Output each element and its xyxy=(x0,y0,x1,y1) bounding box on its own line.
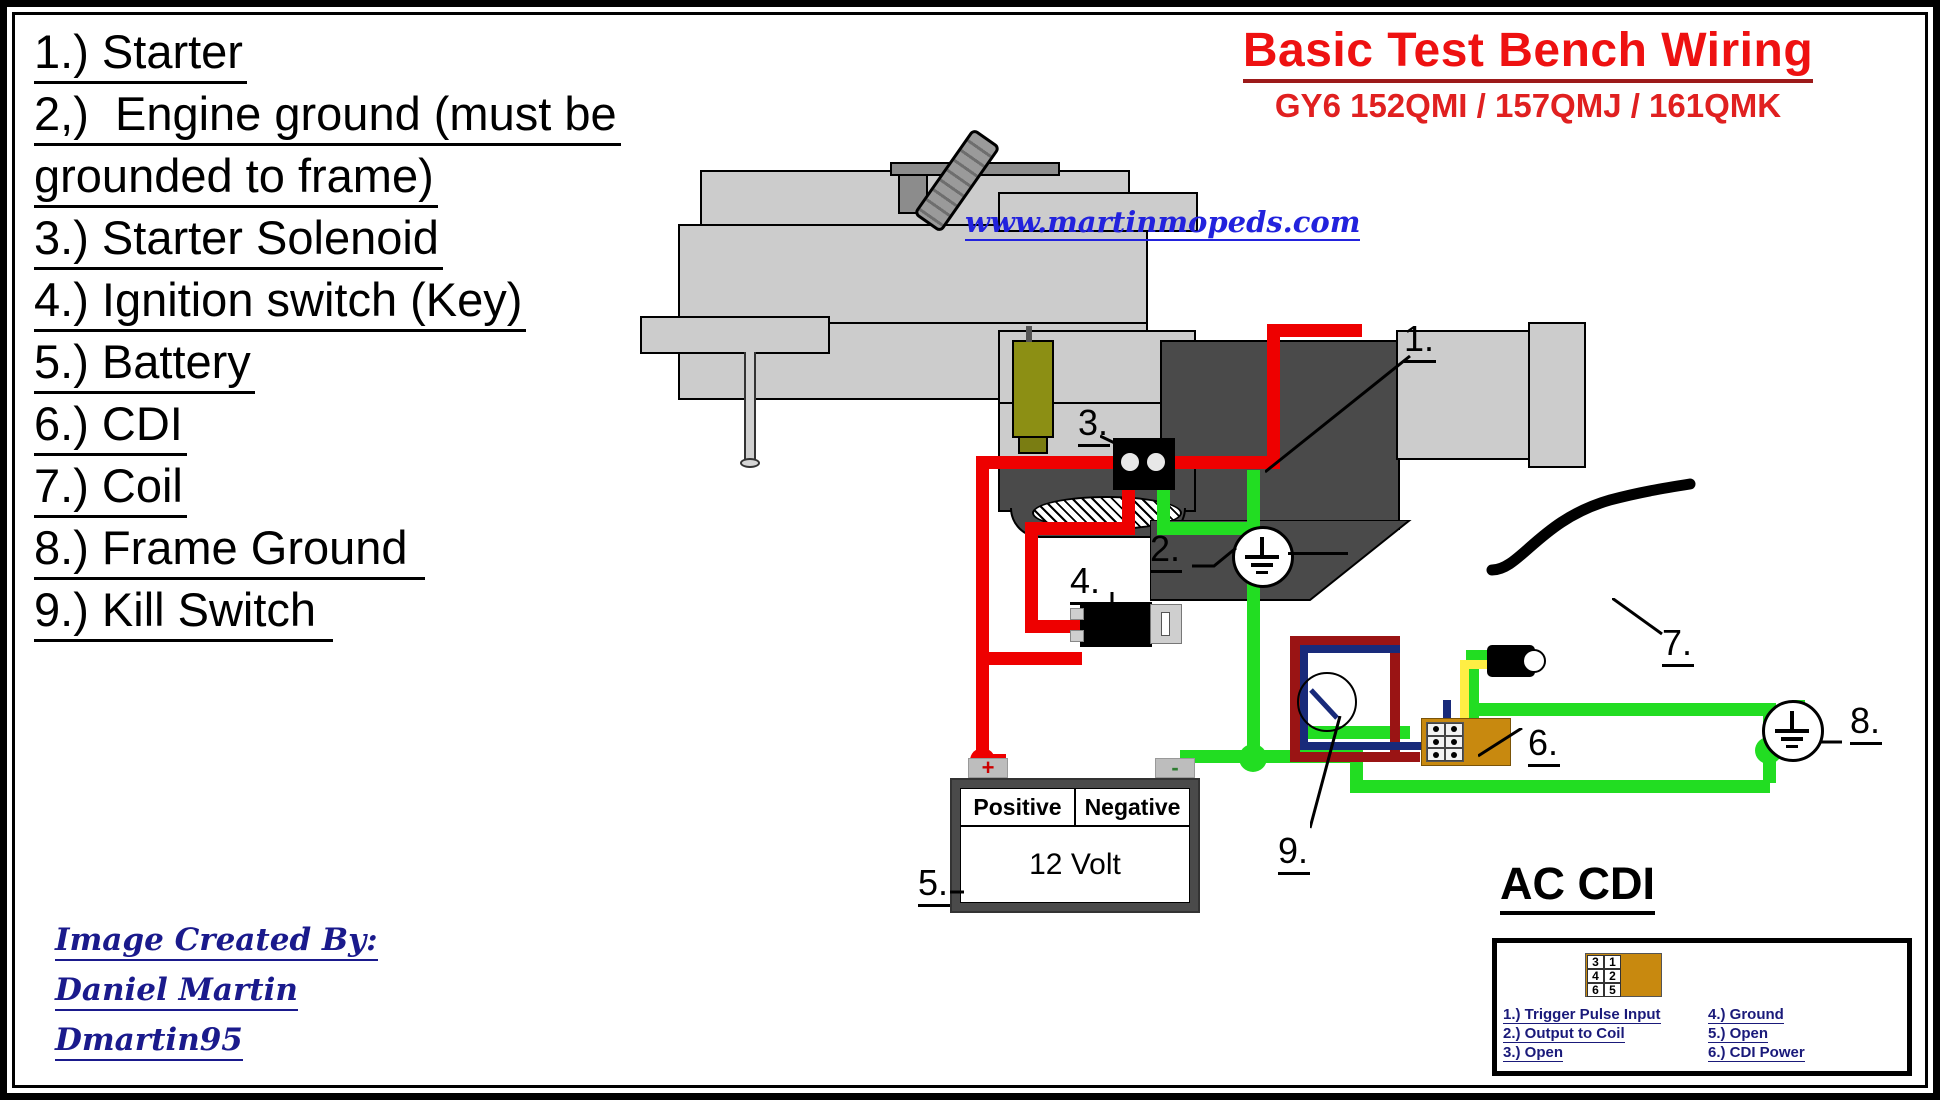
leader-3 xyxy=(1100,432,1170,482)
credit-block: Image Created By: Daniel Martin Dmartin9… xyxy=(55,915,378,1065)
wire-ground-bus-bottom xyxy=(1350,780,1770,793)
ignition-switch-pin-bottom xyxy=(1070,630,1084,642)
ac-cdi-panel: 3 1 4 2 6 5 1.) Trigger Pulse Input 2.) … xyxy=(1492,938,1912,1076)
page-subtitle: GY6 152QMI / 157QMJ / 161QMK xyxy=(1148,84,1908,128)
wire-engine-ground-drop xyxy=(1247,580,1260,760)
ac-cdi-legend-left: 1.) Trigger Pulse Input 2.) Output to Co… xyxy=(1503,1005,1708,1062)
wire-key-feed-from-battery xyxy=(982,652,1082,665)
callout-5: 5. xyxy=(918,862,950,904)
frame-ground xyxy=(1762,700,1824,762)
frame-ground-bar-1 xyxy=(1775,729,1809,733)
wire-trigger-to-key-down xyxy=(1025,522,1038,632)
wire-coil-ground-right xyxy=(1466,703,1776,716)
ac-cdi-pinout-legend: 1.) Trigger Pulse Input 2.) Output to Co… xyxy=(1503,1005,1903,1062)
leader-8 xyxy=(1820,736,1940,756)
cdi-pin xyxy=(1445,736,1463,749)
wire-battery-positive-vertical xyxy=(976,456,989,766)
ac-cdi-pin-grid: 3 1 4 2 6 5 xyxy=(1587,955,1621,995)
high-tension-lead xyxy=(1480,460,1710,580)
wire-engine-ground-to-case xyxy=(1288,552,1348,555)
ground-stem xyxy=(1260,537,1264,557)
callout-4: 4. xyxy=(1070,560,1102,602)
legend-item-2: 2,) Engine ground (must be xyxy=(34,84,754,146)
leader-5 xyxy=(950,888,1000,918)
dipstick-rod xyxy=(744,352,756,462)
ac-cdi-pin-5: 5 xyxy=(1604,983,1621,997)
battery-label: Positive Negative 12 Volt xyxy=(960,788,1190,903)
page-title: Basic Test Bench Wiring xyxy=(1148,24,1908,78)
credit-line-1: Image Created By: xyxy=(55,915,378,965)
cdi-pin xyxy=(1445,723,1463,736)
credit-line-3: Dmartin95 xyxy=(55,1015,378,1065)
cdi-pin xyxy=(1427,736,1445,749)
wire-trigger-top xyxy=(1300,645,1400,653)
starter-motor xyxy=(1012,340,1054,438)
battery-negative-terminal: - xyxy=(1155,758,1195,778)
coil-boot xyxy=(1522,649,1546,673)
axle-boss xyxy=(1528,322,1586,468)
legend-item-1: 1.) Starter xyxy=(34,22,754,84)
frame-ground-bar-2 xyxy=(1781,737,1803,741)
ac-cdi-legend-item: 2.) Output to Coil xyxy=(1503,1024,1708,1043)
starter-motor-cap xyxy=(1018,436,1048,454)
wire-starter-feed-top xyxy=(1267,324,1362,337)
frame-ground-bar-3 xyxy=(1786,745,1798,748)
cdi-pin xyxy=(1427,723,1445,736)
cdi-connector-block xyxy=(1426,722,1464,762)
battery-negative-label: Negative xyxy=(1076,789,1189,825)
watermark: www.martinmopeds.com xyxy=(965,205,1360,239)
leader-6 xyxy=(1478,728,1538,778)
credit-line-2: Daniel Martin xyxy=(55,965,378,1015)
ac-cdi-pin-3: 3 xyxy=(1587,955,1604,969)
leader-7 xyxy=(1612,598,1682,648)
leader-9 xyxy=(1310,716,1390,836)
ac-cdi-connector: 3 1 4 2 6 5 xyxy=(1585,953,1662,997)
battery-positive-terminal: + xyxy=(968,758,1008,778)
cdi-pin xyxy=(1445,748,1463,761)
wire-solenoid-trigger-left xyxy=(1025,522,1135,535)
wiring-diagram-page: 1.) Starter 2,) Engine ground (must be g… xyxy=(0,0,1940,1100)
ac-cdi-legend-item: 3.) Open xyxy=(1503,1043,1708,1062)
ac-cdi-legend-item: 6.) CDI Power xyxy=(1708,1043,1805,1062)
leader-1 xyxy=(1265,352,1455,482)
ac-cdi-legend-item: 4.) Ground xyxy=(1708,1005,1805,1024)
ac-cdi-pin-4: 4 xyxy=(1587,969,1604,983)
ac-cdi-legend-item: 5.) Open xyxy=(1708,1024,1805,1043)
wire-cdi-power-killsw-drop xyxy=(1390,636,1400,752)
engine-mount-flange xyxy=(640,316,830,354)
ac-cdi-legend-item: 1.) Trigger Pulse Input xyxy=(1503,1005,1708,1024)
frame-ground-stem xyxy=(1790,711,1794,731)
title-block: Basic Test Bench Wiring GY6 152QMI / 157… xyxy=(1148,24,1908,128)
cdi-pin xyxy=(1427,748,1445,761)
dipstick-tip xyxy=(740,458,760,468)
ground-bar-3 xyxy=(1256,571,1268,574)
starter-motor-terminal xyxy=(1026,326,1032,342)
ignition-switch-pin-top xyxy=(1070,608,1084,620)
leader-4 xyxy=(1106,592,1126,632)
callout-9: 9. xyxy=(1278,830,1310,872)
ac-cdi-heading: AC CDI xyxy=(1500,858,1655,910)
leader-2 xyxy=(1192,540,1252,580)
ac-cdi-legend-right: 4.) Ground 5.) Open 6.) CDI Power xyxy=(1708,1005,1805,1062)
battery-polarity-header: Positive Negative xyxy=(961,789,1189,827)
battery-positive-label: Positive xyxy=(961,789,1076,825)
ignition-key-slot xyxy=(1161,612,1170,636)
wire-engine-ground-riser xyxy=(1247,470,1260,535)
ac-cdi-pin-2: 2 xyxy=(1604,969,1621,983)
callout-2: 2. xyxy=(1150,528,1182,570)
ac-cdi-pin-6: 6 xyxy=(1587,983,1604,997)
ground-bar-2 xyxy=(1251,563,1273,567)
ac-cdi-pin-1: 1 xyxy=(1604,955,1621,969)
